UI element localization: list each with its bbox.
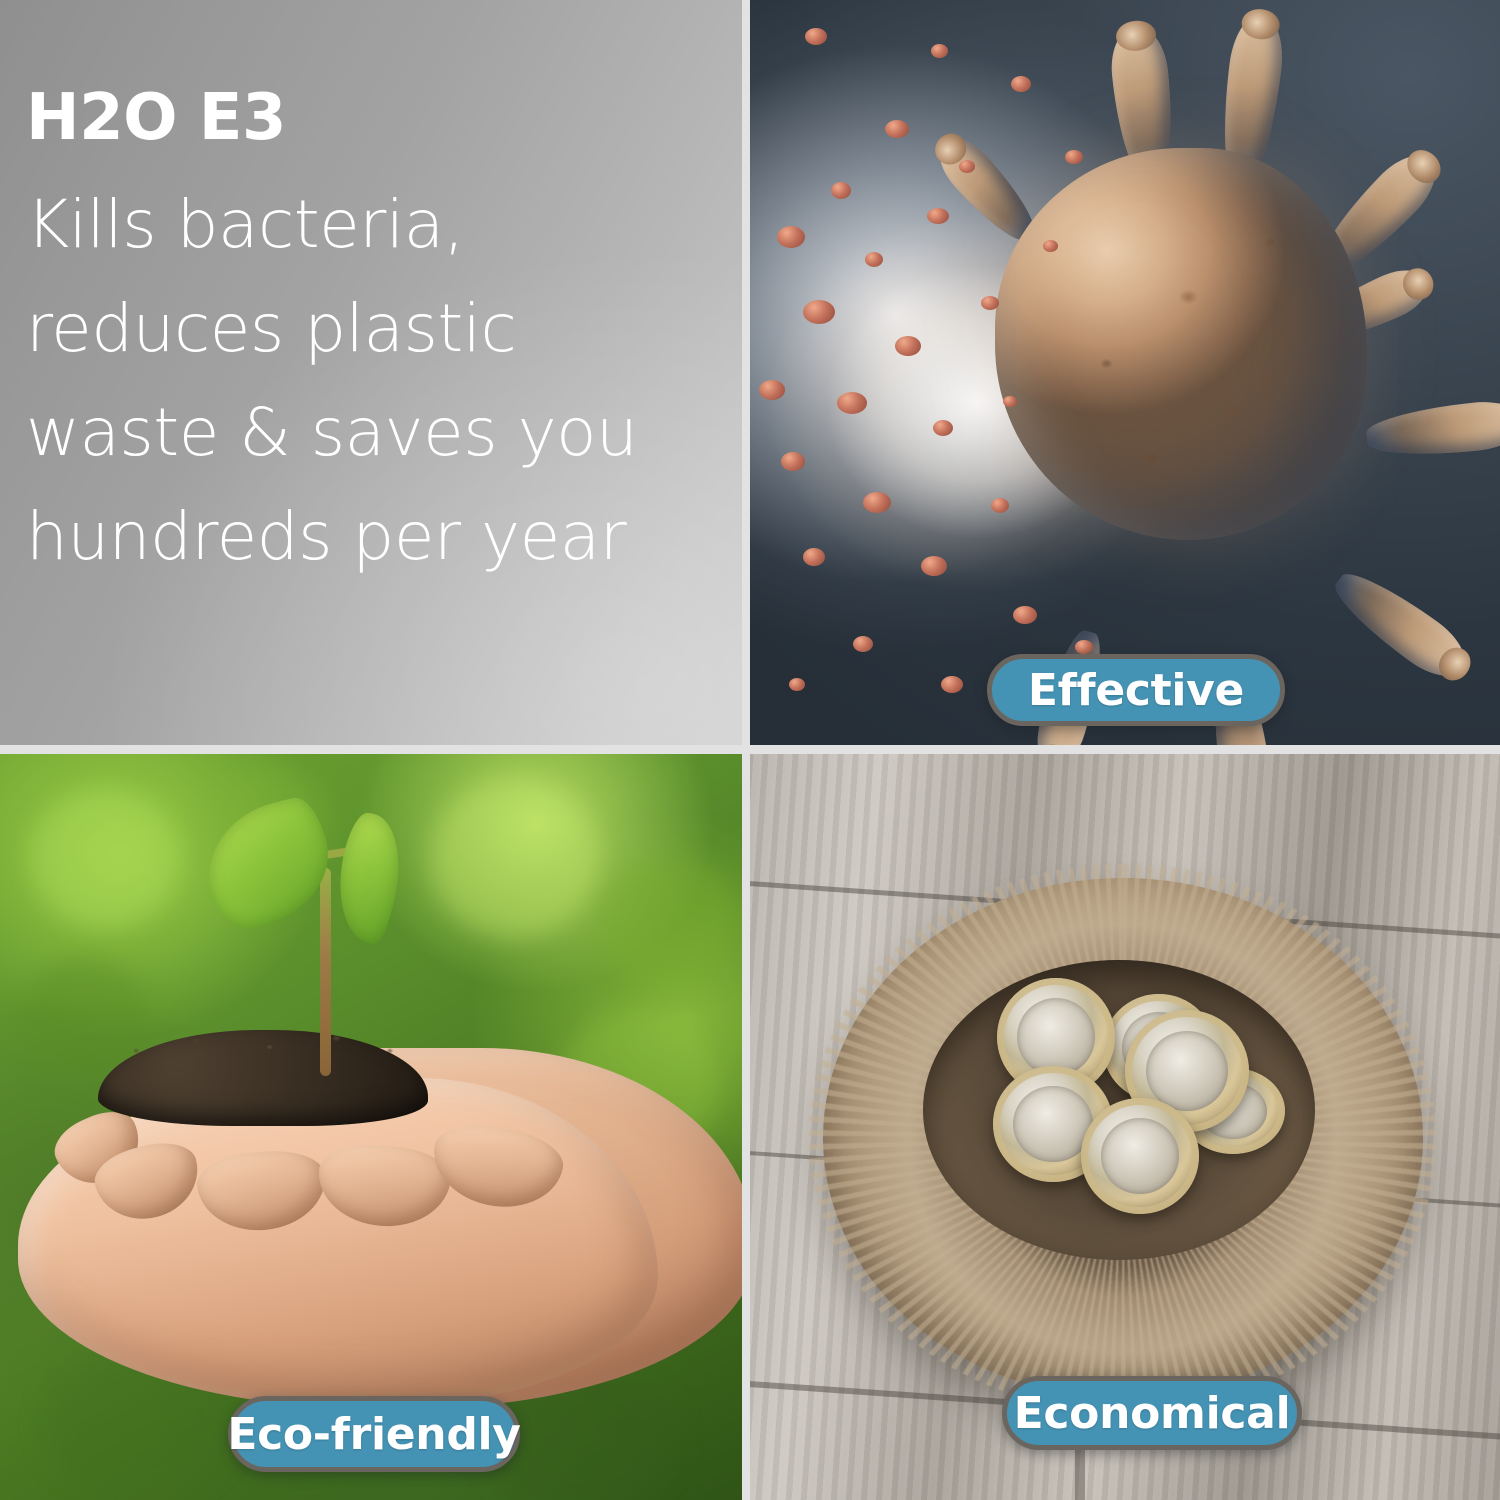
debris-particle (981, 296, 999, 310)
debris-particle (805, 28, 827, 45)
debris-particle (921, 556, 947, 576)
status-badge-eco-friendly[interactable]: Eco-friendly (228, 1396, 520, 1472)
debris-particle (853, 636, 873, 652)
text-block: H2O E3 Kills bacteria, reduces plastic w… (26, 86, 739, 589)
tagline-line-1: Kills bacteria, (26, 173, 739, 277)
debris-particle (863, 492, 891, 513)
debris-particle (831, 182, 851, 199)
tagline-line-2: reduces plastic (26, 277, 739, 381)
virus-body (995, 148, 1367, 540)
debris-particle (1043, 240, 1058, 252)
debris-particle (759, 380, 785, 400)
status-badge-economical[interactable]: Economical (1002, 1376, 1302, 1450)
debris-particle (789, 678, 805, 691)
tagline-line-3: waste & saves you (26, 381, 739, 485)
debris-particle (931, 44, 948, 58)
debris-particle (1011, 76, 1031, 92)
bokeh-blob (600, 858, 740, 988)
debris-particle (781, 452, 805, 471)
debris-particle (959, 160, 975, 173)
seedling-leaf (329, 810, 408, 946)
tagline: Kills bacteria, reduces plastic waste & … (26, 173, 739, 589)
debris-particle (1065, 150, 1083, 164)
bokeh-blob (430, 778, 600, 938)
debris-particle (803, 300, 835, 324)
eco-panel: Eco-friendly (0, 748, 745, 1500)
debris-particle (895, 336, 921, 356)
debris-particle (941, 676, 963, 693)
debris-particle (927, 208, 949, 224)
status-badge-effective[interactable]: Effective (987, 654, 1285, 726)
debris-particle (933, 420, 953, 436)
effective-panel: Effective (745, 0, 1500, 748)
seedling-stem (320, 868, 331, 1076)
pound-coin (1081, 1098, 1199, 1214)
soil-mound (98, 1030, 428, 1126)
debris-particle (803, 548, 825, 566)
debris-particle (777, 226, 805, 248)
debris-particle (1075, 640, 1093, 654)
virus-spike (1364, 398, 1500, 462)
debris-particle (1013, 606, 1037, 624)
tagline-line-4: hundreds per year (26, 485, 739, 589)
economical-panel: Economical (745, 748, 1500, 1500)
text-panel: H2O E3 Kills bacteria, reduces plastic w… (0, 0, 745, 748)
debris-particle (865, 252, 883, 267)
product-feature-collage: H2O E3 Kills bacteria, reduces plastic w… (0, 0, 1500, 1500)
debris-particle (1003, 396, 1017, 407)
debris-particle (885, 120, 909, 138)
debris-particle (991, 498, 1009, 513)
bokeh-blob (30, 788, 180, 928)
debris-particle (837, 392, 867, 414)
page-title: H2O E3 (26, 86, 739, 151)
virus-spike (1325, 561, 1475, 688)
